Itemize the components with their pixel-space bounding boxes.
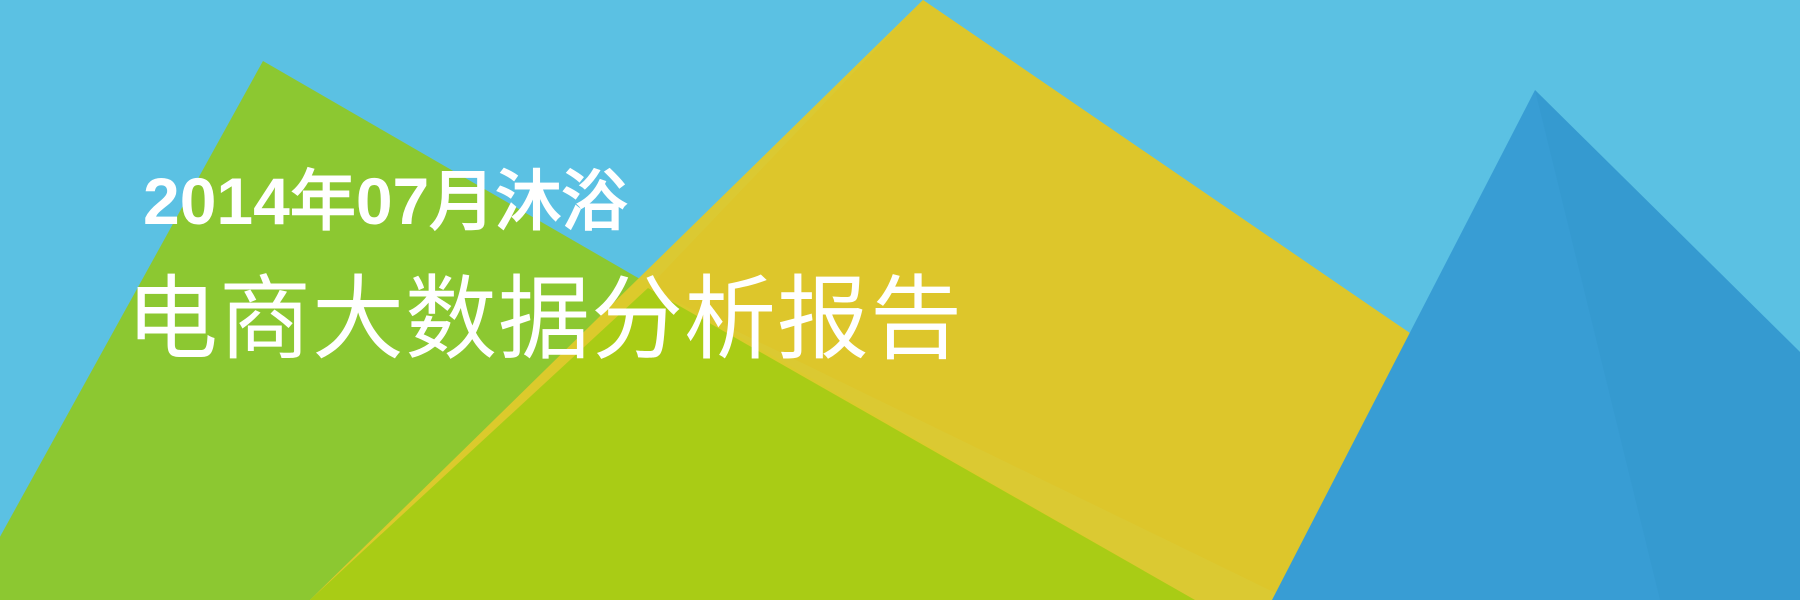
background-geometric-artwork bbox=[0, 0, 1800, 600]
report-cover-banner: 2014年07月沐浴 电商大数据分析报告 bbox=[0, 0, 1800, 600]
